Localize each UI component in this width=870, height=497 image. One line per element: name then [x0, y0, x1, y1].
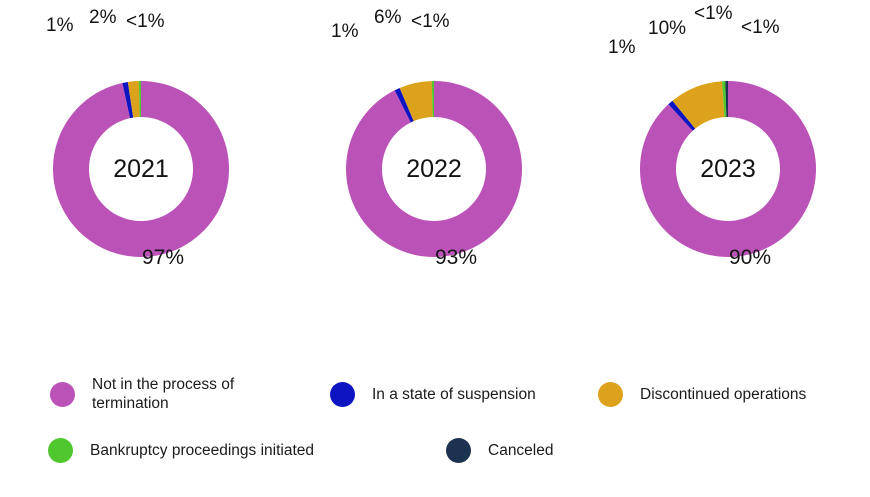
- main-percentage-2023: 90%: [729, 247, 771, 268]
- legend-item-bankruptcy-proceedings-initiated[interactable]: Bankruptcy proceedings initiated: [48, 438, 314, 463]
- donut-chart-2022: 202293%1%6%<1%: [293, 0, 583, 340]
- circle-icon: [598, 382, 623, 407]
- donut-chart-2021: 202197%1%2%<1%: [0, 0, 290, 340]
- donut-charts-container: 202197%1%2%<1%202293%1%6%<1%202390%1%10%…: [0, 0, 870, 340]
- donut-center-year-2023: 2023: [678, 157, 778, 182]
- legend-label: Discontinued operations: [640, 385, 806, 404]
- circle-icon: [446, 438, 471, 463]
- donut-center-year-2022: 2022: [384, 157, 484, 182]
- callout-percentage-2023-3: <1%: [694, 4, 733, 23]
- legend-label: In a state of suspension: [372, 385, 536, 404]
- legend-item-not-in-process-of-termination[interactable]: Not in the process of termination: [50, 375, 267, 414]
- callout-percentage-2023-1: 1%: [608, 38, 635, 57]
- chart-legend: Not in the process of terminationIn a st…: [0, 355, 870, 497]
- callout-percentage-2022-1: 1%: [331, 22, 358, 41]
- callout-percentage-2021-1: 1%: [46, 16, 73, 35]
- callout-percentage-2023-4: <1%: [741, 18, 780, 37]
- legend-item-in-a-state-of-suspension[interactable]: In a state of suspension: [330, 382, 536, 407]
- callout-percentage-2021-3: <1%: [126, 12, 165, 31]
- callout-percentage-2023-2: 10%: [648, 19, 686, 38]
- callout-percentage-2022-3: <1%: [411, 12, 450, 31]
- circle-icon: [48, 438, 73, 463]
- circle-icon: [50, 382, 75, 407]
- callout-percentage-2022-2: 6%: [374, 8, 401, 27]
- main-percentage-2022: 93%: [435, 247, 477, 268]
- legend-label: Canceled: [488, 441, 554, 460]
- circle-icon: [330, 382, 355, 407]
- donut-center-year-2021: 2021: [91, 157, 191, 182]
- legend-item-canceled[interactable]: Canceled: [446, 438, 554, 463]
- legend-item-discontinued-operations[interactable]: Discontinued operations: [598, 382, 806, 407]
- legend-label: Bankruptcy proceedings initiated: [90, 441, 314, 460]
- callout-percentage-2021-2: 2%: [89, 8, 116, 27]
- main-percentage-2021: 97%: [142, 247, 184, 268]
- donut-chart-2023: 202390%1%10%<1%<1%: [587, 0, 870, 340]
- legend-label: Not in the process of termination: [92, 375, 267, 414]
